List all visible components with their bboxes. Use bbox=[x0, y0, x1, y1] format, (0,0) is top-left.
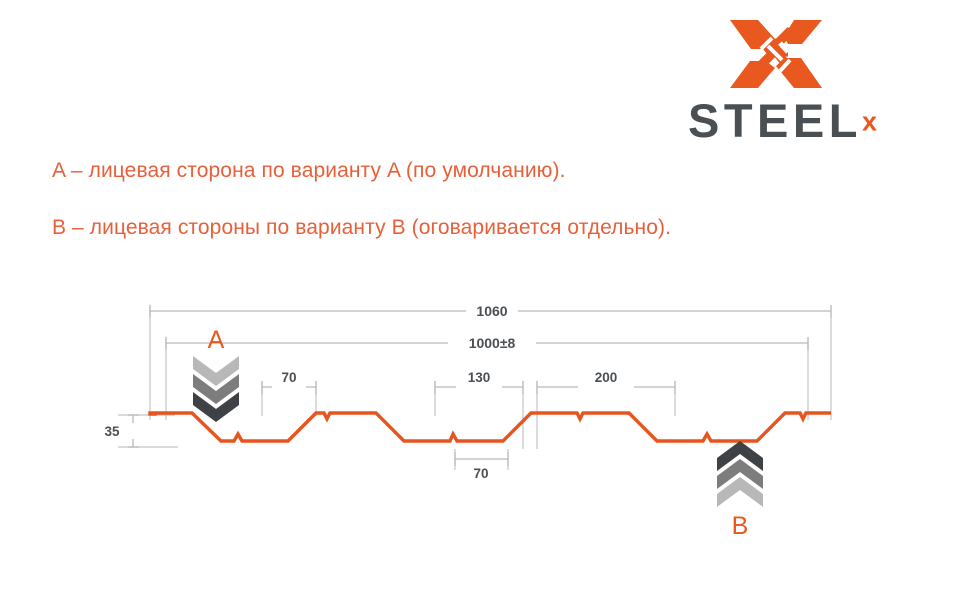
dimension-label-cover-width: 1000±8 bbox=[469, 335, 516, 351]
dimension-label-pitch-130: 130 bbox=[468, 370, 491, 385]
sheet-profile-outline bbox=[150, 413, 831, 441]
dimension-label-crest-width: 70 bbox=[281, 370, 296, 385]
dimension-label-profile-height: 35 bbox=[104, 424, 120, 439]
marker-a-indicator: A bbox=[193, 326, 239, 422]
profile-cross-section-drawing: 1060 1000±8 70 130 200 70 35 A B bbox=[0, 0, 970, 597]
marker-a-label: A bbox=[208, 326, 225, 354]
dimension-label-overall-width: 1060 bbox=[476, 303, 507, 319]
dimension-label-trough-width: 70 bbox=[473, 466, 488, 481]
marker-b-indicator: B bbox=[717, 441, 763, 540]
dimension-label-pitch-200: 200 bbox=[595, 370, 618, 385]
marker-a-chevron-icon bbox=[193, 356, 239, 422]
marker-b-label: B bbox=[732, 512, 749, 540]
marker-b-chevron-icon bbox=[717, 441, 763, 507]
